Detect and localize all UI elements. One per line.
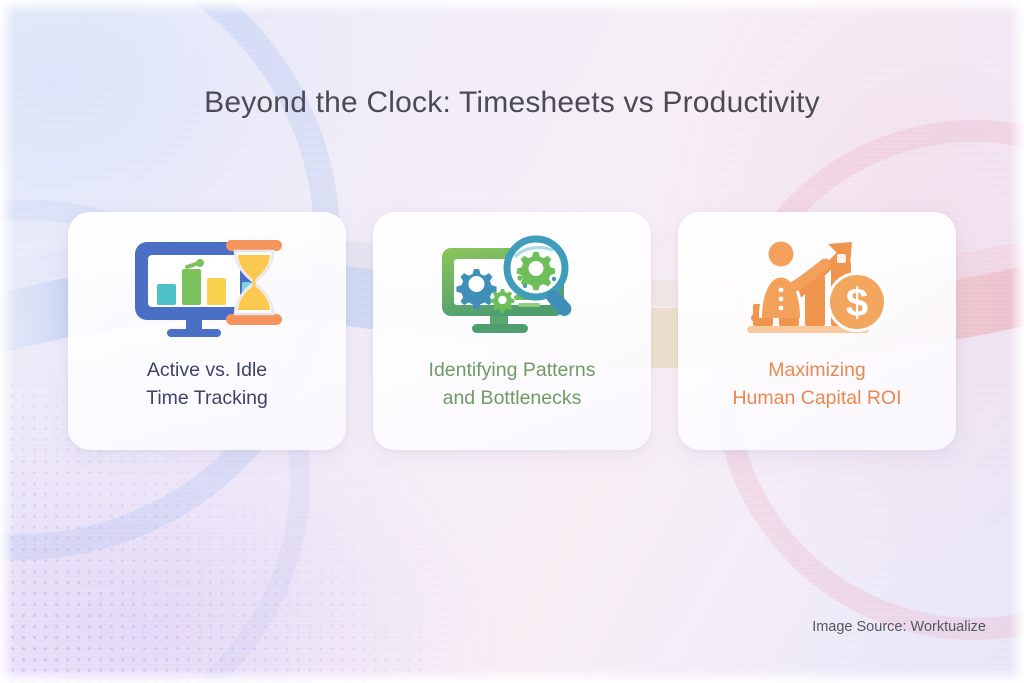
infographic-canvas: Beyond the Clock: Timesheets vs Producti…	[0, 0, 1024, 683]
card-icon-wrapper: $	[733, 234, 901, 338]
monitor-gears-magnifier-icon	[428, 234, 596, 338]
image-source-caption: Image Source: Worktualize	[812, 619, 986, 635]
card-row: Active vs. Idle Time Tracking	[68, 212, 958, 450]
card-label-maximizing-human-capital-roi: Maximizing Human Capital ROI	[697, 356, 937, 413]
card-identifying-patterns-bottlenecks[interactable]: Identifying Patterns and Bottlenecks	[373, 212, 651, 450]
page-title: Beyond the Clock: Timesheets vs Producti…	[0, 86, 1024, 120]
card-label-active-idle-time-tracking: Active vs. Idle Time Tracking	[87, 356, 327, 413]
card-icon-wrapper	[123, 234, 291, 338]
monitor-bar-chart-hourglass-icon	[123, 234, 291, 338]
svg-text:$: $	[846, 281, 868, 325]
person-growth-chart-dollar-coin-icon: $	[733, 234, 901, 338]
card-icon-wrapper	[428, 234, 596, 338]
card-maximizing-human-capital-roi[interactable]: $ Maximizing Human Capital ROI	[678, 212, 956, 450]
card-label-identifying-patterns-bottlenecks: Identifying Patterns and Bottlenecks	[392, 356, 632, 413]
card-active-idle-time-tracking[interactable]: Active vs. Idle Time Tracking	[68, 212, 346, 450]
